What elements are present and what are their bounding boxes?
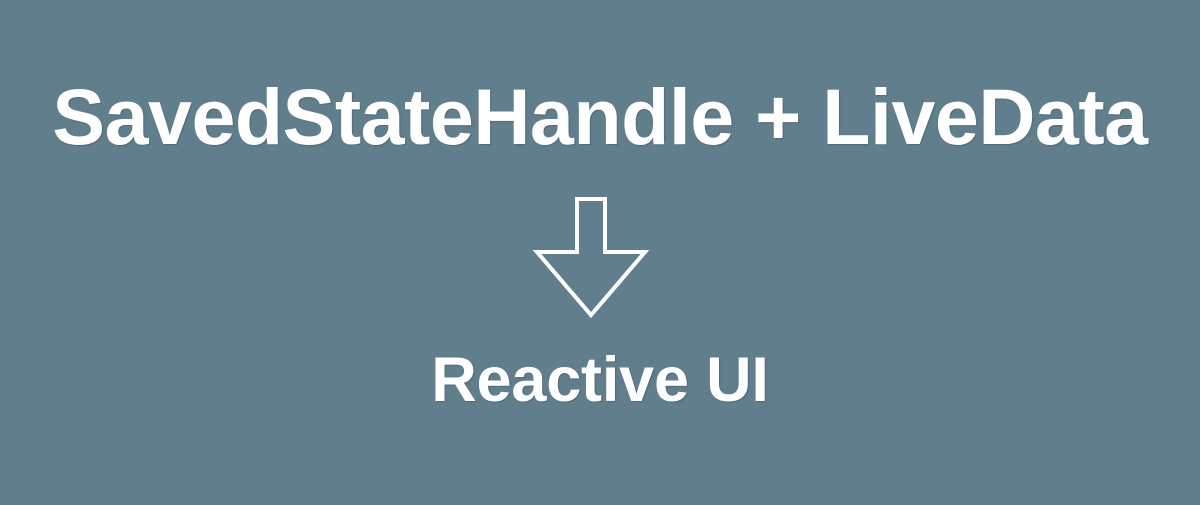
headline-text: SavedStateHandle + LiveData (0, 77, 1200, 156)
subline-text: Reactive UI (0, 349, 1200, 412)
down-arrow-outline-path (537, 199, 645, 315)
down-arrow-outline-icon (553, 196, 647, 318)
arrow-container (0, 196, 1200, 318)
diagram-slide: SavedStateHandle + LiveData Reactive UI (0, 0, 1200, 505)
